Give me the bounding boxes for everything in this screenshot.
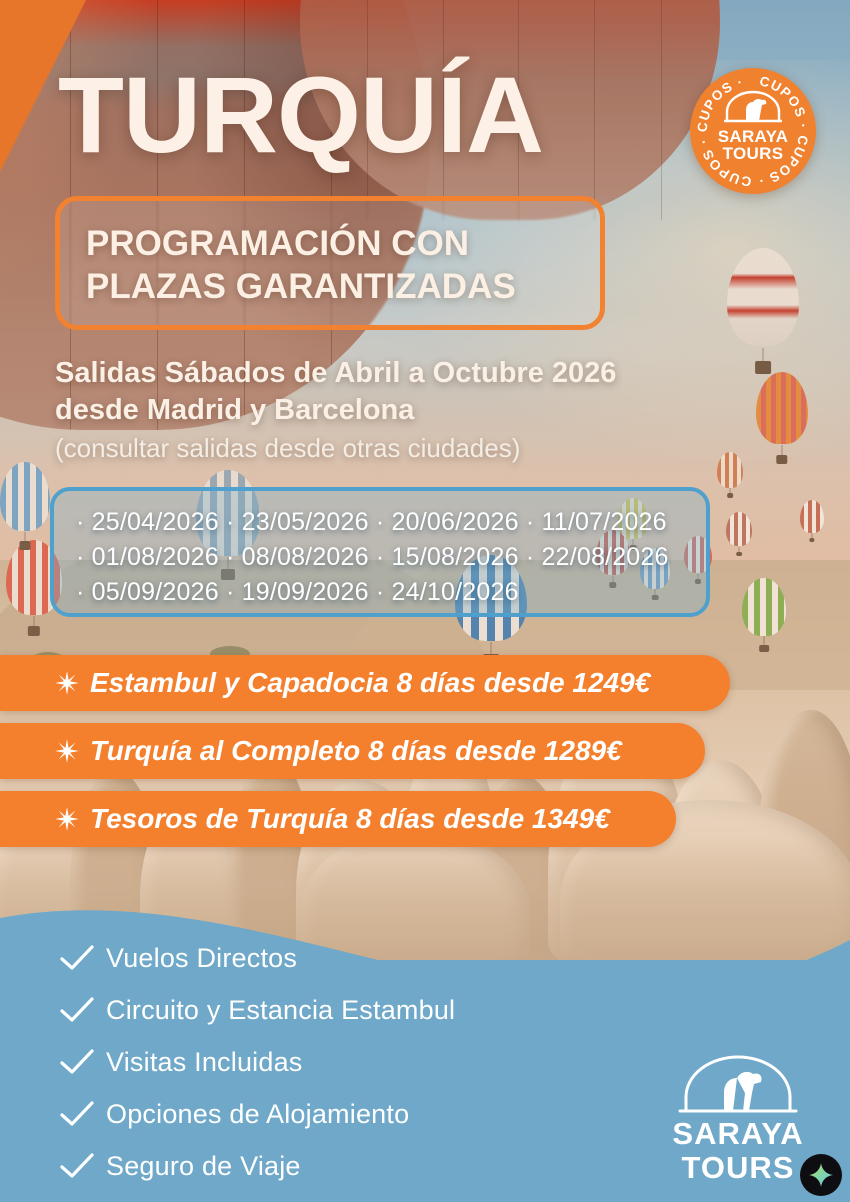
- sparkle-icon: [808, 1162, 834, 1188]
- subtitle-note: (consultar salidas desde otras ciudades): [55, 431, 815, 466]
- check-icon: [58, 943, 96, 973]
- check-icon: [58, 1099, 96, 1129]
- feature-label: Vuelos Directos: [106, 943, 297, 974]
- subtitle-line-2: desde Madrid y Barcelona: [55, 392, 815, 429]
- ai-watermark-badge: [800, 1154, 842, 1196]
- dates-row: · 05/09/2026 · 19/09/2026 · 24/10/2026: [76, 575, 684, 610]
- feature-item: Circuito y Estancia Estambul: [58, 988, 455, 1032]
- feature-label: Seguro de Viaje: [106, 1151, 301, 1182]
- asterisk-icon: [54, 670, 80, 696]
- hot-air-balloon: [726, 512, 752, 556]
- camel-arch-icon: [724, 88, 782, 124]
- feature-label: Visitas Incluidas: [106, 1047, 303, 1078]
- headline-text: PROGRAMACIÓN CON PLAZAS GARANTIZADAS: [86, 223, 516, 308]
- offer-bar[interactable]: Tesoros de Turquía 8 días desde 1349€: [0, 791, 676, 847]
- headline-line-1: PROGRAMACIÓN CON: [86, 223, 516, 266]
- check-icon: [58, 1047, 96, 1077]
- departure-dates-box: · 25/04/2026 · 23/05/2026 · 20/06/2026 ·…: [50, 487, 710, 617]
- camel-arch-icon: [678, 1055, 798, 1117]
- hot-air-balloon: [800, 500, 824, 542]
- poster: TURQUÍA CUPOS · CUPOS · CUPOS · CUPOS · …: [0, 0, 850, 1202]
- cupos-badge-brand: SARAYA TOURS: [690, 128, 816, 162]
- offer-label: Turquía al Completo 8 días desde 1289€: [90, 735, 622, 767]
- feature-item: Vuelos Directos: [58, 936, 455, 980]
- feature-item: Opciones de Alojamiento: [58, 1092, 455, 1136]
- brand-line-2: TOURS: [690, 145, 816, 162]
- asterisk-icon: [54, 806, 80, 832]
- page-title: TURQUÍA: [58, 62, 543, 168]
- feature-item: Visitas Incluidas: [58, 1040, 455, 1084]
- asterisk-icon: [54, 738, 80, 764]
- dates-row: · 01/08/2026 · 08/08/2026 · 15/08/2026 ·…: [76, 540, 684, 575]
- dates-row: · 25/04/2026 · 23/05/2026 · 20/06/2026 ·…: [76, 505, 684, 540]
- offer-label: Tesoros de Turquía 8 días desde 1349€: [90, 803, 610, 835]
- footer-logo: SARAYA TOURS: [658, 1055, 818, 1185]
- offer-label: Estambul y Capadocia 8 días desde 1249€: [90, 667, 650, 699]
- check-icon: [58, 1151, 96, 1181]
- check-icon: [58, 995, 96, 1025]
- hot-air-balloon: [742, 578, 786, 652]
- footer-brand-line-1: SARAYA: [658, 1117, 818, 1151]
- feature-item: Seguro de Viaje: [58, 1144, 455, 1188]
- offer-bar[interactable]: Estambul y Capadocia 8 días desde 1249€: [0, 655, 730, 711]
- subtitle-block: Salidas Sábados de Abril a Octubre 2026 …: [55, 355, 815, 466]
- feature-label: Circuito y Estancia Estambul: [106, 995, 455, 1026]
- cupos-badge: CUPOS · CUPOS · CUPOS · CUPOS · SARAYA T…: [690, 68, 816, 194]
- headline-line-2: PLAZAS GARANTIZADAS: [86, 266, 516, 309]
- footer-brand-line-2: TOURS: [658, 1151, 818, 1185]
- headline-box: PROGRAMACIÓN CON PLAZAS GARANTIZADAS: [55, 196, 605, 330]
- offer-bar[interactable]: Turquía al Completo 8 días desde 1289€: [0, 723, 705, 779]
- features-list: Vuelos Directos Circuito y Estancia Esta…: [58, 936, 455, 1196]
- feature-label: Opciones de Alojamiento: [106, 1099, 409, 1130]
- brand-line-1: SARAYA: [690, 128, 816, 145]
- hot-air-balloon: [0, 462, 50, 550]
- subtitle-line-1: Salidas Sábados de Abril a Octubre 2026: [55, 355, 815, 392]
